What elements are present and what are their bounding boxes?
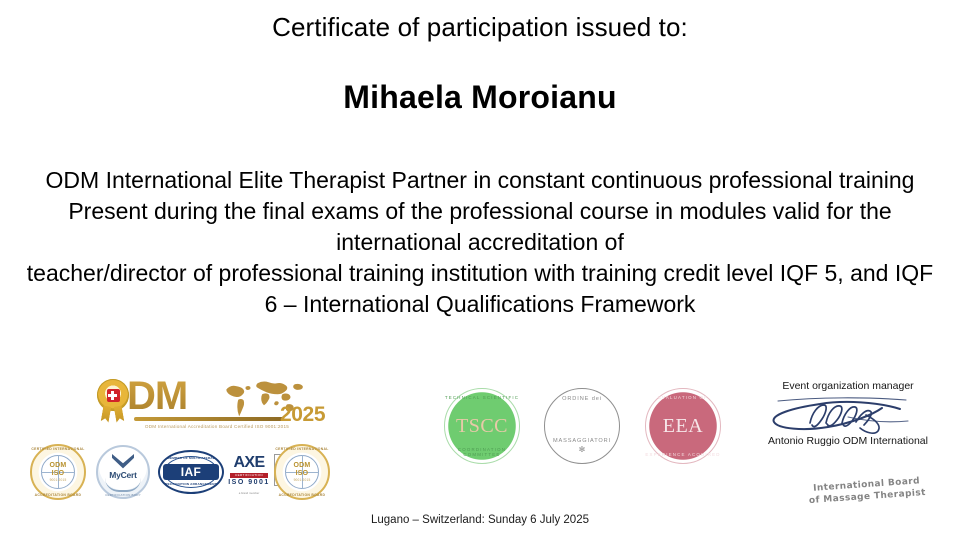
- accreditation-seal-strip: CERTIFIED INTERNATIONAL ODM ISO 9001:201…: [24, 442, 340, 500]
- certificate-body: ODM International Elite Therapist Partne…: [18, 165, 942, 320]
- seal-core-label-2: ISO: [52, 470, 65, 477]
- seal-axe-iso-9001: AXE CERTIFICATION ISO 9001 a brand membe…: [228, 448, 270, 494]
- seal-ring-top: CERTIFIED INTERNATIONAL: [30, 447, 86, 451]
- ordine-ring-bottom: MASSAGGIATORI: [544, 439, 620, 444]
- odm-logo-block: DM 2025 ODM International Accreditation …: [22, 374, 340, 502]
- seal-odm-iso-right: CERTIFIED INTERNATIONAL ODM ISO 9001:201…: [274, 444, 330, 500]
- iaf-label: IAF: [181, 466, 202, 478]
- signature-name: Antonio Ruggio ODM International: [748, 435, 948, 448]
- iaf-ring-bottom: RECOGNITION ARRANGEMENT: [158, 483, 224, 487]
- mycert-sub: CERTIFICATION BODY: [96, 494, 150, 497]
- odm-year: 2025: [280, 404, 325, 425]
- seal-ring-top-2: CERTIFIED INTERNATIONAL: [274, 447, 330, 451]
- footer-location-date: Lugano – Switzerland: Sunday 6 July 2025: [0, 513, 960, 528]
- seal-ordine-dei-massaggiatori: ORDINE dei MASSAGGIATORI ✻: [544, 388, 620, 464]
- seal-iaf: MEMBER OF MULTILATERAL IAF RECOGNITION A…: [158, 450, 224, 494]
- eea-ring-top: EVALUATION OF: [645, 395, 721, 400]
- body-line-1: ODM International Elite Therapist Partne…: [18, 165, 942, 196]
- tscc-ring-top: TECHNICAL SCIENTIFIC: [444, 395, 520, 400]
- seal-ring-bottom-2: ACCREDITATION BOARD: [274, 493, 330, 497]
- signature-block: Event organization manager Antonio Ruggi…: [748, 380, 948, 460]
- seal-odm-iso-left: CERTIFIED INTERNATIONAL ODM ISO 9001:201…: [30, 444, 86, 500]
- seal-ring-bottom: ACCREDITATION BOARD: [30, 493, 86, 497]
- axe-standard: ISO 9001: [228, 479, 270, 487]
- body-line-2: Present during the final exams of the pr…: [18, 196, 942, 258]
- seal-tscc: TECHNICAL SCIENTIFIC TSCC COORDINATION C…: [444, 388, 520, 464]
- center-seals-group: TECHNICAL SCIENTIFIC TSCC COORDINATION C…: [440, 388, 730, 474]
- odm-tagline: ODM International Accreditation Board Ce…: [112, 423, 322, 430]
- axe-label: AXE: [228, 454, 270, 471]
- seal-core-label-r: ODM: [294, 462, 311, 469]
- body-line-3: teacher/director of professional trainin…: [18, 258, 942, 320]
- eea-initials: EEA: [645, 415, 721, 437]
- seal-core-sub-r: 9001:2015: [274, 478, 330, 482]
- certificate-page: Certificate of participation issued to: …: [0, 0, 960, 540]
- rubber-stamp: International Board of Massage Therapist: [791, 474, 942, 508]
- seal-core-label: ODM: [50, 462, 67, 469]
- iaf-ring-top: MEMBER OF MULTILATERAL: [158, 457, 224, 461]
- seal-core-label-r2: ISO: [296, 470, 309, 477]
- tscc-initials: TSCC: [444, 415, 520, 437]
- handwritten-signature: [748, 393, 948, 435]
- star-icon: ✻: [544, 446, 620, 454]
- signature-role: Event organization manager: [748, 380, 948, 393]
- seal-eea: EVALUATION OF EEA EXPERIENCE ACQUIRED: [645, 388, 721, 464]
- recipient-name: Mihaela Moroianu: [0, 78, 960, 116]
- eea-ring-bottom: EXPERIENCE ACQUIRED: [645, 452, 721, 457]
- axe-note: a brand member: [228, 492, 270, 495]
- certificate-title: Certificate of participation issued to:: [0, 11, 960, 43]
- tscc-ring-bottom: COORDINATION COMMITTEE: [444, 447, 520, 457]
- axe-bar-text: CERTIFICATION: [230, 473, 268, 478]
- odm-wordmark: DM 2025 ODM International Accreditation …: [22, 374, 340, 436]
- seal-core-sub: 9001:2015: [30, 478, 86, 482]
- seal-mycert: MyCert CERTIFICATION BODY: [96, 445, 150, 499]
- ordine-ring-top: ORDINE dei: [544, 397, 620, 402]
- odm-letters: DM: [127, 376, 187, 416]
